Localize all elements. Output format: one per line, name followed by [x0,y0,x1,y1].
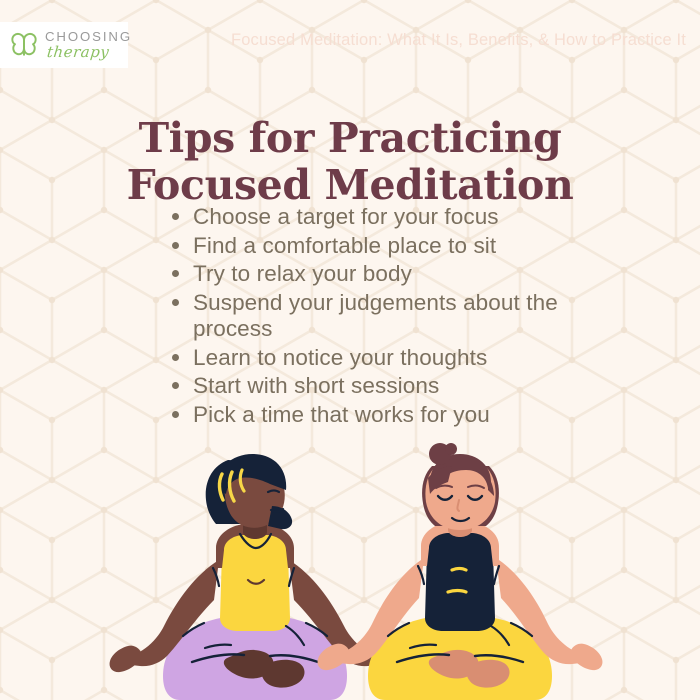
list-item: Start with short sessions [171,373,571,400]
meditating-woman-right [318,443,603,700]
page-title-line-2: Focused Meditation [0,162,700,209]
article-title: Focused Meditation: What It Is, Benefits… [231,31,686,50]
list-item-label: Pick a time that works for you [193,402,490,427]
bullet-icon [172,411,179,418]
leaf-logo-icon [9,30,39,60]
brand-name-secondary: therapy [46,45,133,60]
meditation-illustration [0,440,700,700]
list-item-label: Suspend your judgements about the proces… [193,290,558,342]
bullet-icon [172,299,179,306]
list-item: Pick a time that works for you [171,402,571,429]
page-title: Tips for Practicing Focused Meditation [0,115,700,209]
bullet-icon [172,242,179,249]
brand-name-primary: CHOOSING [45,30,132,43]
list-item-label: Start with short sessions [193,373,439,398]
list-item-label: Choose a target for your focus [193,204,499,229]
list-item: Find a comfortable place to sit [171,233,571,260]
list-item: Learn to notice your thoughts [171,345,571,372]
list-item: Choose a target for your focus [171,204,571,231]
bullet-icon [172,354,179,361]
list-item-label: Try to relax your body [193,261,412,286]
bullet-icon [172,213,179,220]
list-item: Suspend your judgements about the proces… [171,290,571,343]
brand-wordmark: CHOOSING therapy [45,30,132,59]
brand-logo[interactable]: CHOOSING therapy [0,22,128,68]
infographic-canvas: CHOOSING therapy Focused Meditation: Wha… [0,0,700,700]
page-title-line-1: Tips for Practicing [0,115,700,162]
bullet-icon [172,270,179,277]
list-item-label: Learn to notice your thoughts [193,345,487,370]
tips-list: Choose a target for your focus Find a co… [171,204,571,430]
bullet-icon [172,382,179,389]
list-item: Try to relax your body [171,261,571,288]
list-item-label: Find a comfortable place to sit [193,233,496,258]
